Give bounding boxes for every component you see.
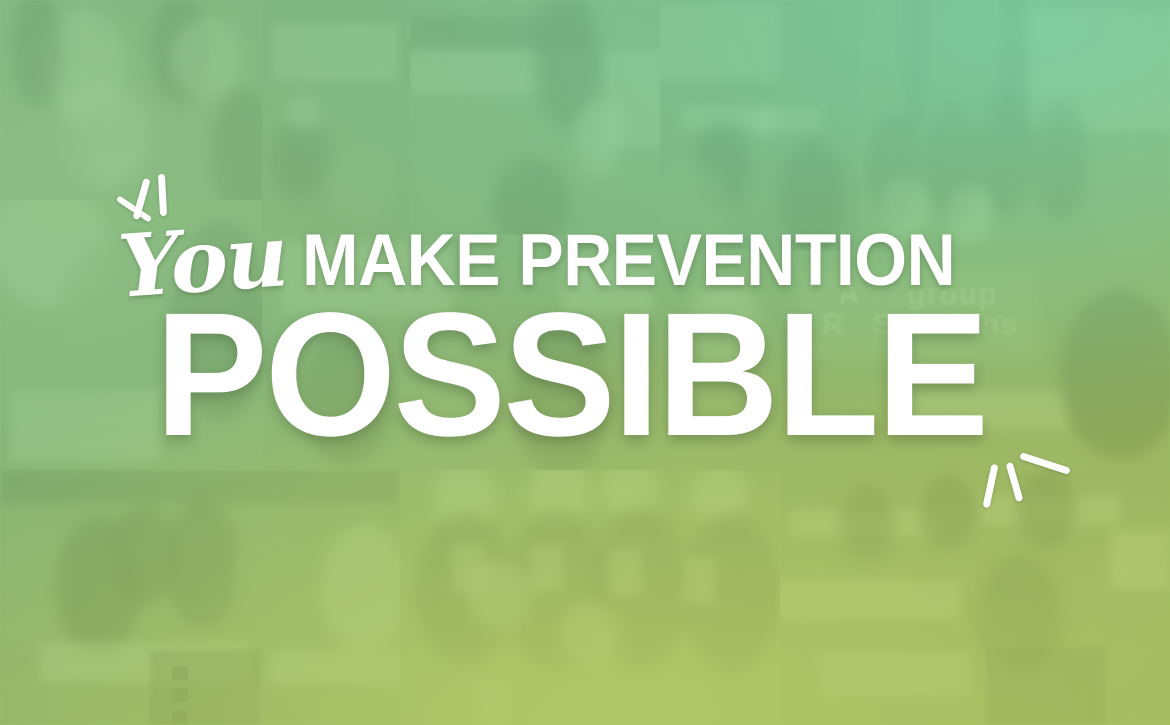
green-wash-overlay (0, 0, 1170, 725)
campaign-banner: A group R Solutions (0, 0, 1170, 725)
